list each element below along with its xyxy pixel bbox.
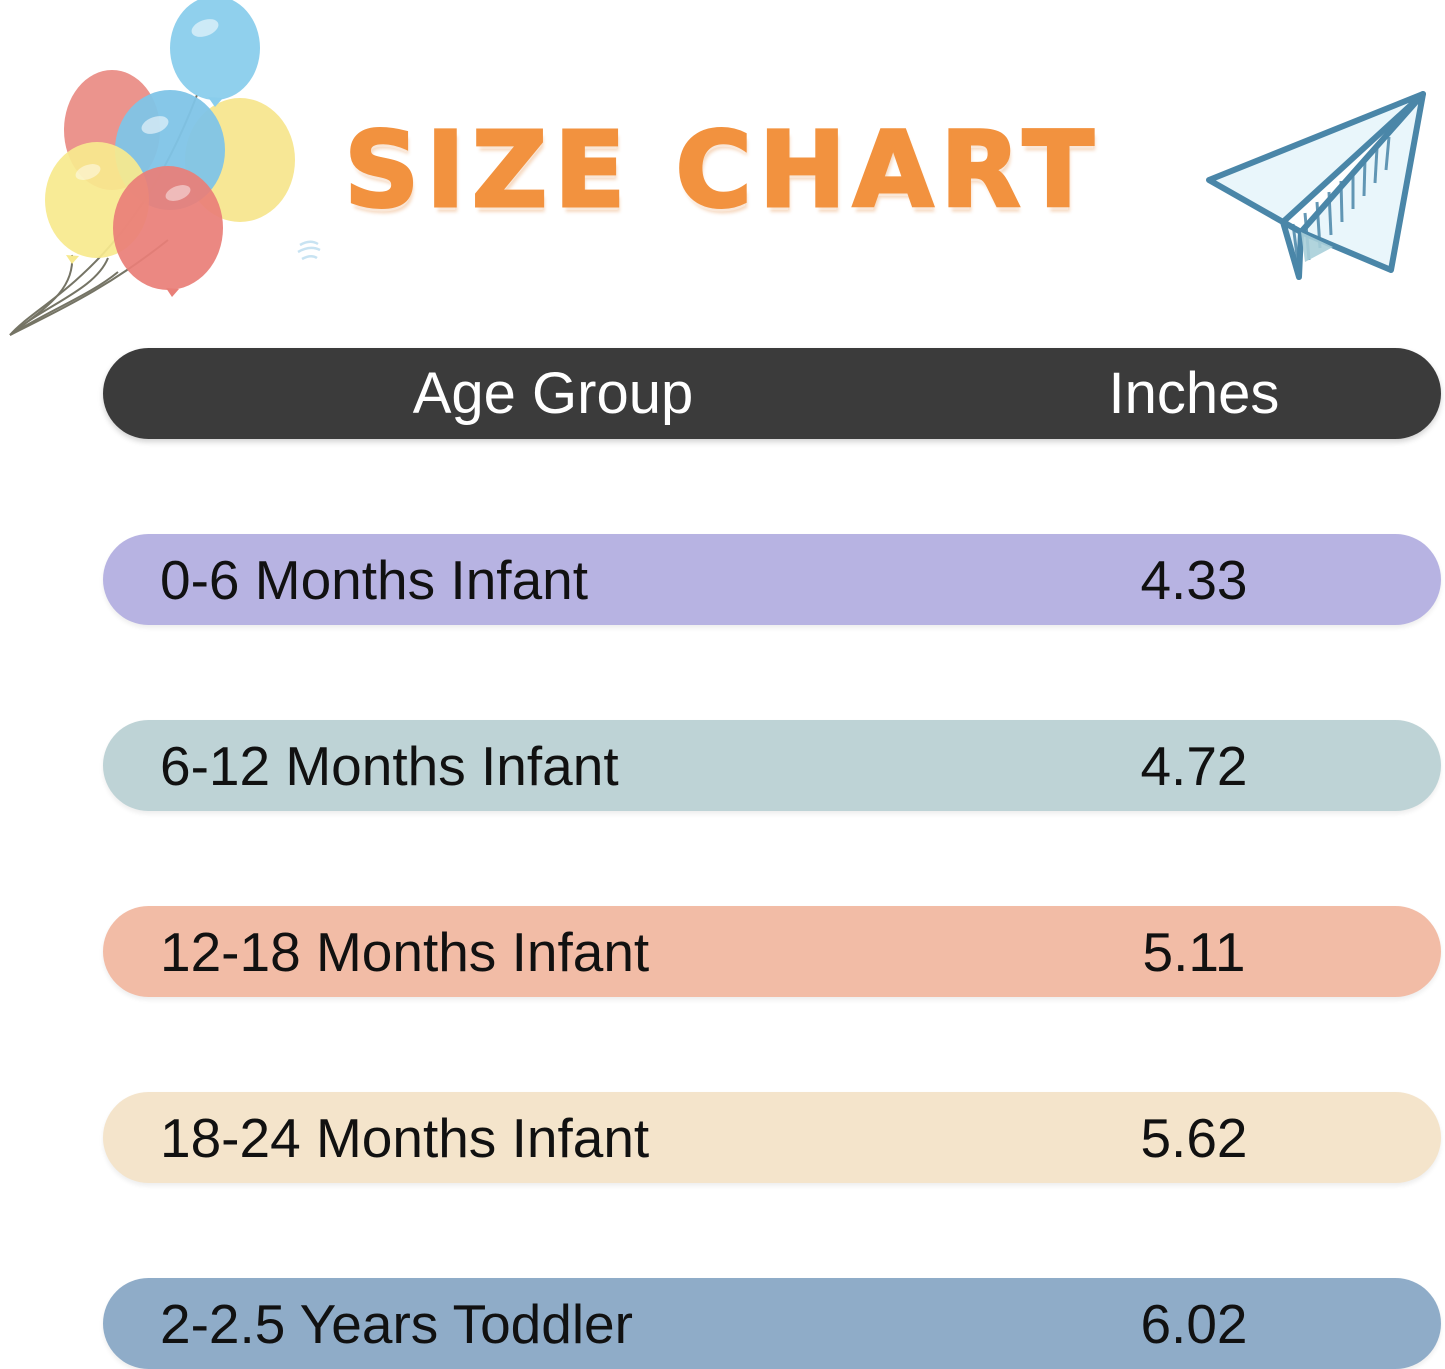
size-chart-table: Age Group Inches 0-6 Months Infant 4.33 … xyxy=(103,348,1441,1369)
table-row: 12-18 Months Infant 5.11 xyxy=(103,906,1441,997)
size-chart-page: SIZE CHART Age Group Inches 0-6 Months I… xyxy=(0,0,1445,1365)
column-header-inches: Inches xyxy=(1003,348,1441,439)
table-header-row: Age Group Inches xyxy=(103,348,1441,439)
table-row: 0-6 Months Infant 4.33 xyxy=(103,534,1441,625)
table-row: 6-12 Months Infant 4.72 xyxy=(103,720,1441,811)
age-group-label: 6-12 Months Infant xyxy=(103,720,1003,811)
age-group-label: 2-2.5 Years Toddler xyxy=(103,1278,1003,1369)
inches-value: 4.72 xyxy=(1003,720,1441,811)
age-group-label: 18-24 Months Infant xyxy=(103,1092,1003,1183)
age-group-label: 12-18 Months Infant xyxy=(103,906,1003,997)
inches-value: 5.62 xyxy=(1003,1092,1441,1183)
inches-value: 6.02 xyxy=(1003,1278,1441,1369)
inches-value: 4.33 xyxy=(1003,534,1441,625)
column-header-age-group: Age Group xyxy=(103,348,1003,439)
table-row: 18-24 Months Infant 5.62 xyxy=(103,1092,1441,1183)
table-row: 2-2.5 Years Toddler 6.02 xyxy=(103,1278,1441,1369)
inches-value: 5.11 xyxy=(1003,906,1441,997)
age-group-label: 0-6 Months Infant xyxy=(103,534,1003,625)
page-title: SIZE CHART xyxy=(0,118,1445,222)
